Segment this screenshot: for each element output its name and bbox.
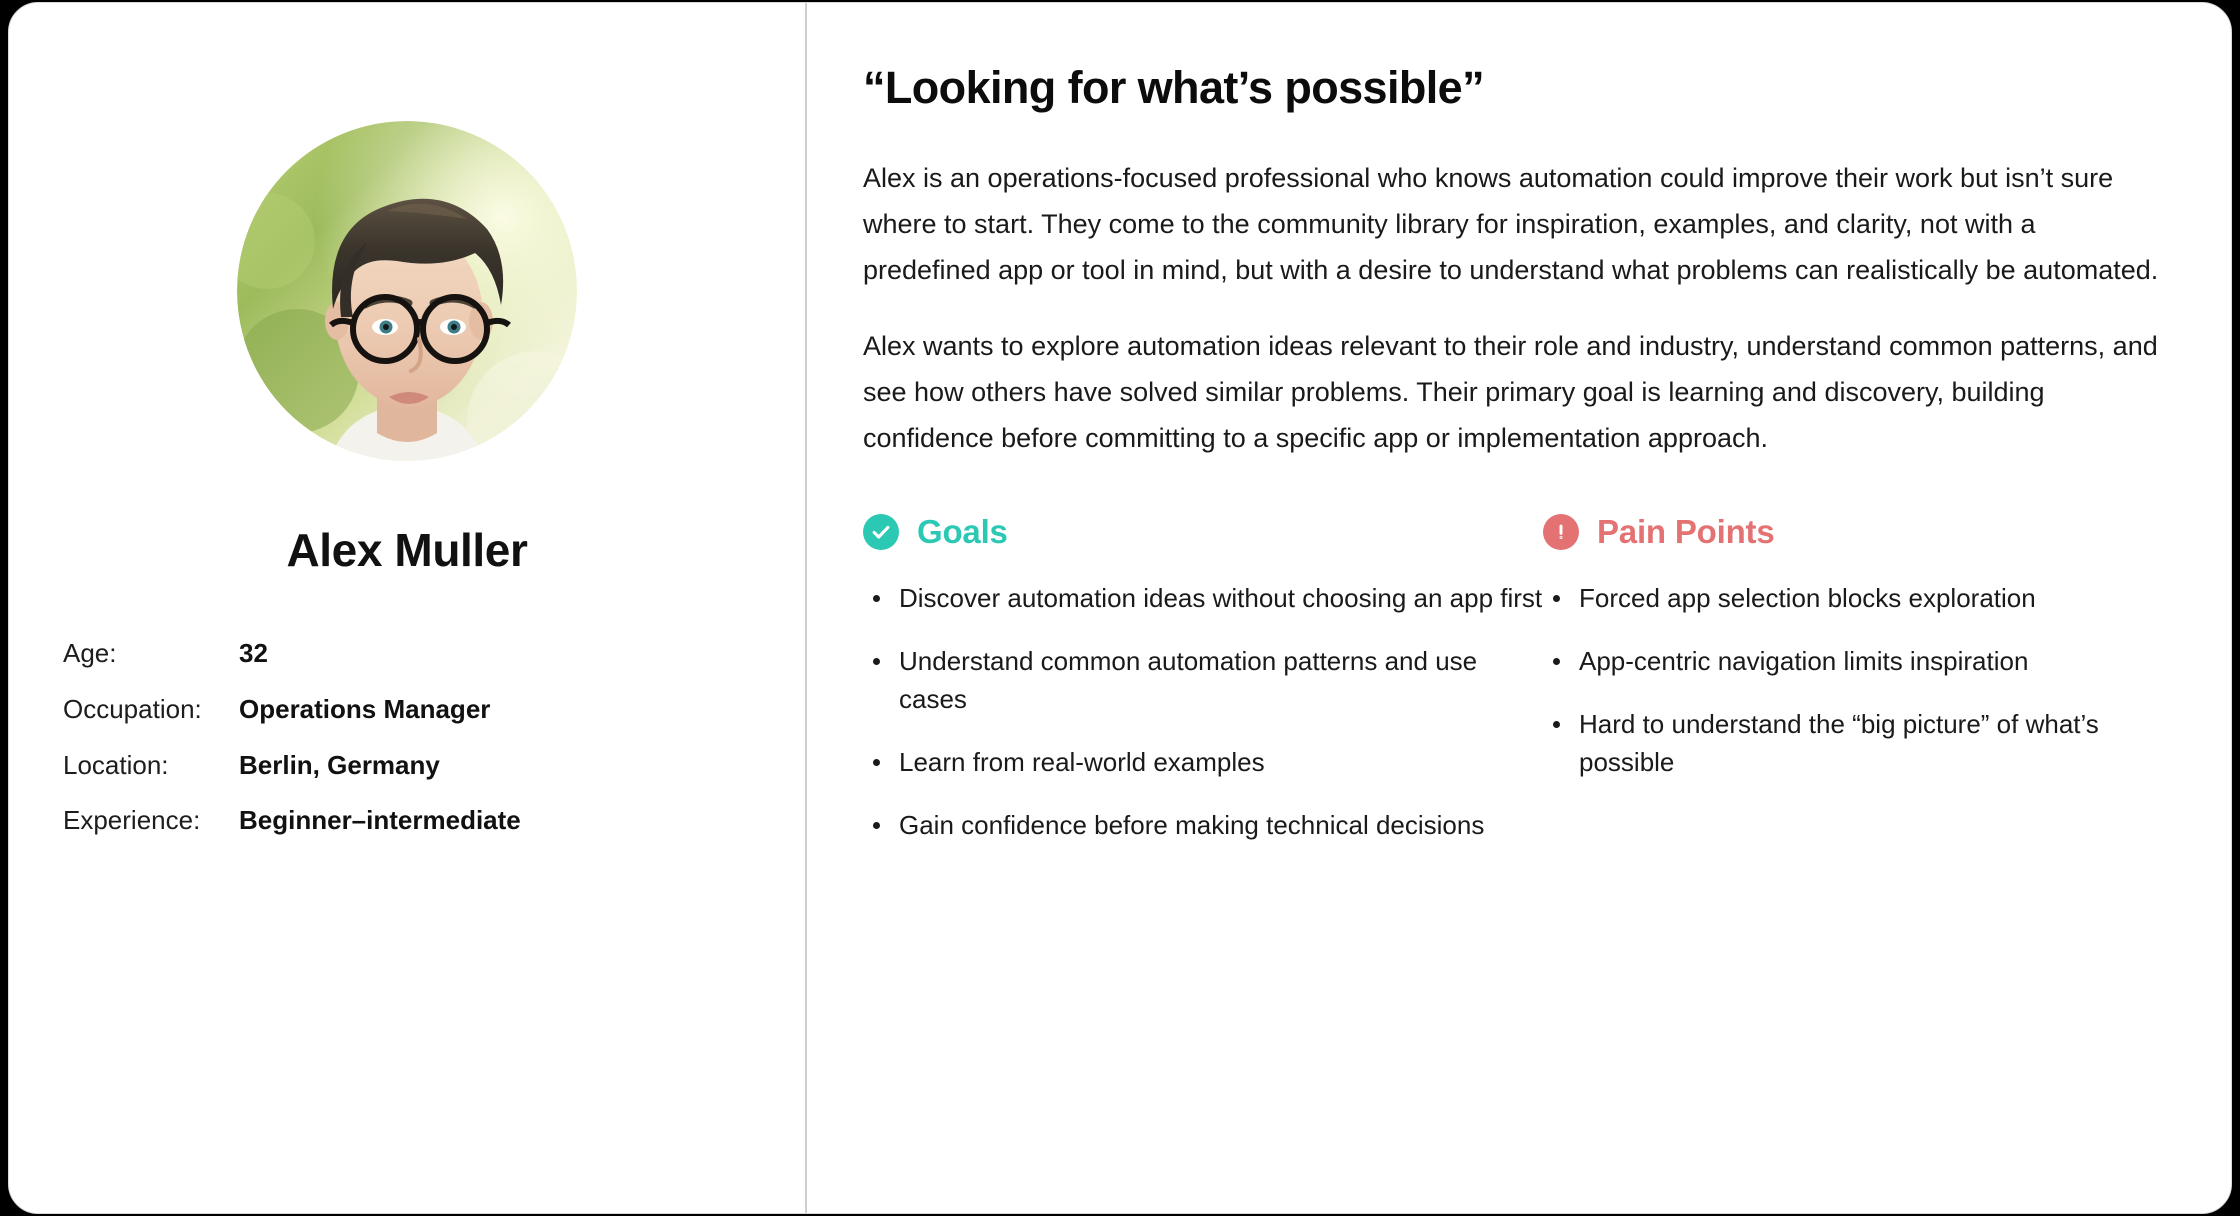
goals-header: Goals [863,513,1543,551]
meta-label-experience: Experience: [63,804,239,838]
check-circle-icon [863,514,899,550]
headline-quote: “Looking for what’s possible” [863,61,2159,115]
pain-points-column: Pain Points Forced app selection blocks … [1543,513,2103,844]
list-item: Forced app selection blocks exploration [1543,579,2103,617]
list-item: Discover automation ideas without choosi… [863,579,1543,617]
pain-points-title: Pain Points [1597,513,1775,551]
goals-title: Goals [917,513,1008,551]
avatar [237,121,577,461]
detail-panel: “Looking for what’s possible” Alex is an… [807,3,2231,1213]
meta-label-age: Age: [63,637,239,671]
profile-panel: Alex Muller Age: 32 Occupation: Operatio… [9,3,807,1213]
persona-name: Alex Muller [286,523,527,577]
description-paragraph-1: Alex is an operations-focused profession… [863,155,2159,293]
pain-points-list: Forced app selection blocks exploration … [1543,579,2103,781]
list-item: Hard to understand the “big picture” of … [1543,705,2103,781]
meta-value-occupation: Operations Manager [239,693,805,727]
insights-columns: Goals Discover automation ideas without … [863,513,2159,844]
persona-card: Alex Muller Age: 32 Occupation: Operatio… [8,2,2232,1214]
goals-column: Goals Discover automation ideas without … [863,513,1543,844]
meta-value-experience: Beginner–intermediate [239,804,805,838]
list-item: App-centric navigation limits inspiratio… [1543,642,2103,680]
profile-meta-table: Age: 32 Occupation: Operations Manager L… [9,637,805,838]
description-paragraph-2: Alex wants to explore automation ideas r… [863,323,2159,461]
list-item: Learn from real-world examples [863,743,1543,781]
meta-label-occupation: Occupation: [63,693,239,727]
user-portrait-photo [237,121,577,461]
list-item: Understand common automation patterns an… [863,642,1543,718]
meta-value-location: Berlin, Germany [239,749,805,783]
goals-list: Discover automation ideas without choosi… [863,579,1543,844]
meta-value-age: 32 [239,637,805,671]
exclamation-circle-icon [1543,514,1579,550]
list-item: Gain confidence before making technical … [863,806,1543,844]
pain-points-header: Pain Points [1543,513,2103,551]
meta-label-location: Location: [63,749,239,783]
